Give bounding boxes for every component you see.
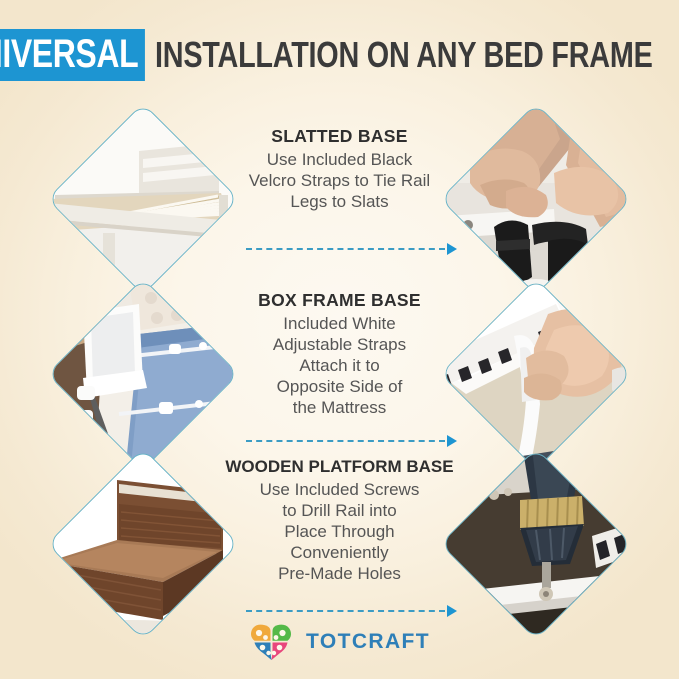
footer-brand: TOTCRAFT [0,618,679,666]
section-slatted-base: SLATTED BASE Use Included BlackVelcro St… [0,104,679,294]
infographic-poster: UNIVERSAL INSTALLATION ON ANY BED FRAME [0,0,679,679]
dashed-arrow-right-icon [204,434,475,448]
section-body: Included WhiteAdjustable StrapsAttach it… [204,313,475,418]
puzzle-heart-logo-icon [249,622,295,662]
arrow-head [447,605,457,617]
section-body: Use Included Screwsto Drill Rail intoPla… [204,479,475,584]
section-wooden-platform-base: WOODEN PLATFORM BASE Use Included Screws… [0,449,679,639]
section-box-frame-base: BOX FRAME BASE Included WhiteAdjustable … [0,279,679,469]
arrow-line [246,440,445,442]
section-title: SLATTED BASE [204,126,475,147]
arrow-line [246,610,445,612]
section-title: WOODEN PLATFORM BASE [204,457,475,477]
universal-badge: UNIVERSAL [0,29,145,81]
headline-text: INSTALLATION ON ANY BED FRAME [155,35,653,75]
section-title: BOX FRAME BASE [204,290,475,311]
dashed-arrow-right-icon [204,604,475,618]
dashed-arrow-right-icon [204,242,475,256]
arrow-line [246,248,445,250]
arrow-head [447,435,457,447]
header: UNIVERSAL INSTALLATION ON ANY BED FRAME [0,27,679,82]
arrow-head [447,243,457,255]
section-body: Use Included BlackVelcro Straps to Tie R… [204,149,475,212]
brand-name: TOTCRAFT [306,630,430,654]
